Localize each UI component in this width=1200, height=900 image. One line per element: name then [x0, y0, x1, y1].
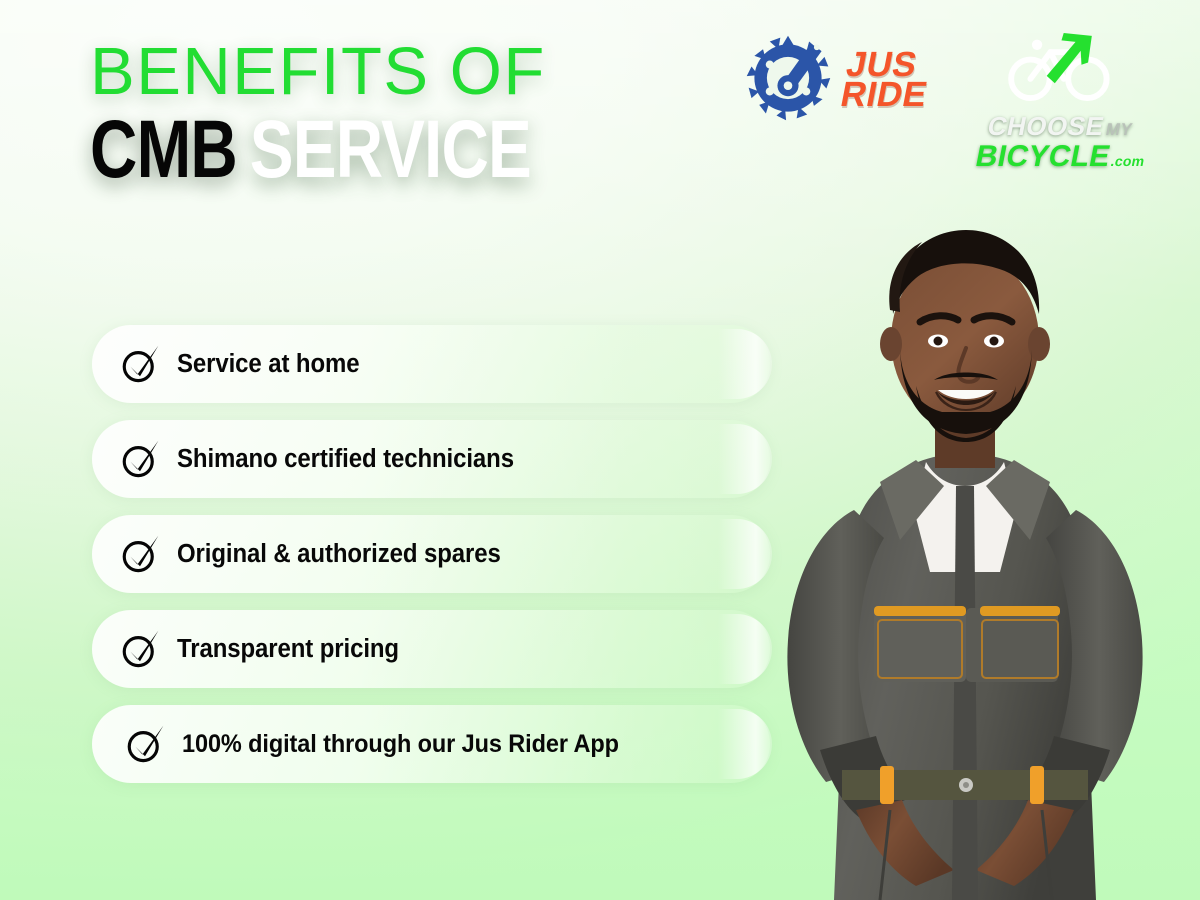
list-item[interactable]: Service at home — [92, 325, 770, 403]
poster-canvas: BENEFITS OF CMBSERVICE — [0, 0, 1200, 900]
technician-photo — [730, 210, 1200, 900]
choose-text: CHOOSE — [985, 111, 1107, 142]
headline-brand: CMB — [90, 104, 237, 195]
headline-word: SERVICE — [250, 104, 531, 195]
list-item[interactable]: Transparent pricing — [92, 610, 770, 688]
logo-row: JUS RIDE — [740, 30, 1145, 174]
check-circle-icon — [119, 628, 161, 670]
jus-ride-wordmark: JUS RIDE — [838, 50, 935, 110]
list-item-label: Transparent pricing — [177, 635, 399, 664]
headline-line1: BENEFITS OF — [90, 40, 730, 104]
list-item-label: Shimano certified technicians — [177, 445, 514, 474]
bicycle-wordmark: BICYCLE .com — [972, 140, 1148, 174]
chainring-crank-icon — [740, 30, 836, 131]
bicycle-arrow-icon — [1004, 30, 1116, 109]
list-item-label: Service at home — [177, 350, 359, 379]
check-circle-icon — [119, 438, 161, 480]
headline-line2: CMBSERVICE — [90, 110, 602, 190]
check-circle-icon — [119, 533, 161, 575]
dotcom-text: .com — [1109, 153, 1146, 169]
logo-jus-ride[interactable]: JUS RIDE — [740, 30, 930, 131]
check-circle-icon — [124, 723, 166, 765]
bicycle-text: BICYCLE — [972, 140, 1112, 174]
benefits-list: Service at home Shimano certified techni… — [92, 325, 770, 800]
choose-my-wordmark: CHOOSE MY — [985, 111, 1136, 142]
list-item[interactable]: Original & authorized spares — [92, 515, 770, 593]
logo-choosemybicycle[interactable]: CHOOSE MY BICYCLE .com — [976, 30, 1145, 174]
list-item-label: 100% digital through our Jus Rider App — [182, 730, 619, 759]
check-circle-icon — [119, 343, 161, 385]
list-item-label: Original & authorized spares — [177, 540, 501, 569]
my-text: MY — [1104, 120, 1134, 140]
jus-ride-line2: RIDE — [838, 81, 929, 111]
page-title: BENEFITS OF CMBSERVICE — [90, 40, 730, 191]
list-item[interactable]: 100% digital through our Jus Rider App — [92, 705, 770, 783]
list-item[interactable]: Shimano certified technicians — [92, 420, 770, 498]
